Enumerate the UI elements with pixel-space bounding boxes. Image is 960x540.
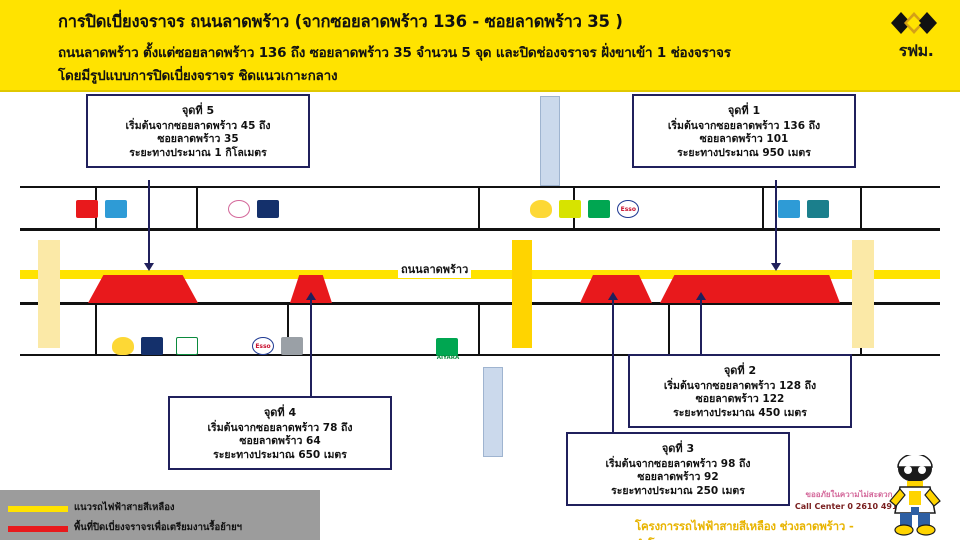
callout-line-2: ซอยลาดพร้าว 64 — [178, 435, 382, 448]
callout-line-2: ซอยลาดพร้าว 122 — [638, 393, 842, 406]
header-subtitle-1: ถนนลาดพร้าว ตั้งแต่ซอยลาดพร้าว 136 ถึง ซ… — [58, 41, 858, 63]
arrow-point-1 — [771, 263, 781, 271]
callout-line-1: เริ่มต้นจากซอยลาดพร้าว 45 ถึง — [96, 120, 300, 133]
legend-swatch-red — [8, 526, 68, 532]
poi-group-upper-mid — [228, 198, 281, 218]
poi-group-lower-left — [112, 335, 165, 355]
shell-station-icon — [112, 337, 134, 355]
legend-swatch-yellow — [8, 506, 68, 512]
side-street-divider — [668, 304, 670, 354]
callout-line-3: ระยะทางประมาณ 250 เมตร — [576, 485, 780, 498]
callout-title: จุดที่ 1 — [642, 101, 846, 119]
leader-point-1 — [775, 180, 777, 265]
mrta-logo-text: รฟม. — [880, 39, 952, 64]
facility-bar-lower — [483, 367, 503, 457]
infographic-page: การปิดเบี่ยงจราจร ถนนลาดพร้าว (จากซอยลาด… — [0, 0, 960, 540]
legend-text-red: พื้นที่ปิดเบี่ยงจราจรเพื่อเตรียมงานรื้อย… — [74, 520, 242, 535]
arrow-point-4 — [306, 292, 316, 300]
cola-logo-icon — [76, 200, 98, 218]
callout-line-3: ระยะทางประมาณ 1 กิโลเมตร — [96, 147, 300, 160]
green-logo-icon — [588, 200, 610, 218]
side-street-divider — [478, 304, 480, 354]
aiyara-label: AIYARA — [436, 355, 460, 361]
callout-title: จุดที่ 5 — [96, 101, 300, 119]
arrow-point-2 — [696, 292, 706, 300]
callout-line-3: ระยะทางประมาณ 450 เมตร — [638, 407, 842, 420]
traffic-diversion-map: แยกรัชดา-ลาดพร้าว แยกลาดพร้าว แยกบางกะปิ… — [0, 92, 960, 490]
callout-line-1: เริ่มต้นจากซอยลาดพร้าว 98 ถึง — [576, 458, 780, 471]
arrow-point-5 — [144, 263, 154, 271]
callout-title: จุดที่ 2 — [638, 361, 842, 379]
side-street-divider — [95, 304, 97, 354]
legend-row-yellow: แนวรถไฟฟ้าสายสีเหลือง — [8, 500, 308, 518]
building-logo-icon — [281, 337, 303, 355]
cross-street-band-center — [512, 240, 532, 348]
mrta-diamond-icon — [887, 8, 945, 38]
callout-point-2: จุดที่ 2 เริ่มต้นจากซอยลาดพร้าว 128 ถึง … — [628, 354, 852, 428]
side-street-divider — [860, 186, 862, 230]
block-border-upper-top — [20, 186, 940, 188]
facility-bar-upper — [540, 96, 560, 186]
bangchak-station-icon — [176, 337, 198, 355]
callout-line-2: ซอยลาดพร้าว 35 — [96, 133, 300, 146]
leader-point-4 — [310, 298, 312, 396]
callout-line-3: ระยะทางประมาณ 950 เมตร — [642, 147, 846, 160]
hospital-logo-icon — [228, 200, 250, 218]
bank-wordmark-icon — [257, 200, 279, 218]
diversion-zone-5 — [88, 275, 198, 303]
leaf-logo-icon — [807, 200, 829, 218]
road-edge-north — [20, 228, 940, 231]
cross-street-band-right — [852, 240, 874, 348]
project-name-label: โครงการรถไฟฟ้าสายสีเหลือง ช่วงลาดพร้าว -… — [635, 518, 885, 540]
header-subtitle-2: โดยมีรูปแบบการปิดเบี่ยงจราจร ชิดแนวเกาะก… — [58, 64, 858, 86]
side-street-divider — [196, 186, 198, 230]
callout-line-1: เริ่มต้นจากซอยลาดพร้าว 128 ถึง — [638, 380, 842, 393]
poi-group-lower-bcp — [176, 335, 200, 355]
side-street-divider — [762, 186, 764, 230]
callout-point-3: จุดที่ 3 เริ่มต้นจากซอยลาดพร้าว 98 ถึง ซ… — [566, 432, 790, 506]
callout-point-5: จุดที่ 5 เริ่มต้นจากซอยลาดพร้าว 45 ถึง ซ… — [86, 94, 310, 168]
leader-point-3 — [612, 298, 614, 432]
road-name-label: ถนนลาดพร้าว — [398, 260, 471, 278]
esso-station-icon: Esso — [617, 200, 639, 218]
callout-title: จุดที่ 4 — [178, 403, 382, 421]
diversion-zone-2 — [660, 275, 840, 303]
caltex-station-icon — [559, 200, 581, 218]
esso-station-icon: Esso — [252, 337, 274, 355]
bank-logo-icon — [105, 200, 127, 218]
arrow-point-3 — [608, 292, 618, 300]
aiyara-logo-icon — [436, 338, 458, 356]
side-street-divider — [478, 186, 480, 230]
mrta-logo: รฟม. — [880, 6, 952, 68]
page-title: การปิดเบี่ยงจราจร ถนนลาดพร้าว (จากซอยลาด… — [58, 12, 848, 32]
bank-logo-icon — [141, 337, 163, 355]
callout-line-2: ซอยลาดพร้าว 101 — [642, 133, 846, 146]
legend-text-yellow: แนวรถไฟฟ้าสายสีเหลือง — [74, 500, 175, 515]
callout-point-1: จุดที่ 1 เริ่มต้นจากซอยลาดพร้าว 136 ถึง … — [632, 94, 856, 168]
poi-group-lower-esso: Esso — [252, 335, 305, 355]
header-banner: การปิดเบี่ยงจราจร ถนนลาดพร้าว (จากซอยลาด… — [0, 0, 960, 92]
legend-panel: แนวรถไฟฟ้าสายสีเหลือง พื้นที่ปิดเบี่ยงจร… — [0, 490, 320, 540]
poi-group-upper-left — [76, 198, 129, 218]
poi-group-upper-right — [778, 198, 831, 218]
leader-point-5 — [148, 180, 150, 265]
shell-station-icon — [530, 200, 552, 218]
callout-line-1: เริ่มต้นจากซอยลาดพร้าว 136 ถึง — [642, 120, 846, 133]
poi-group-upper-stations: Esso — [530, 198, 641, 218]
leader-point-2 — [700, 298, 702, 354]
callout-point-4: จุดที่ 4 เริ่มต้นจากซอยลาดพร้าว 78 ถึง ซ… — [168, 396, 392, 470]
mascot-robot-icon — [880, 455, 950, 537]
cross-street-band-left — [38, 240, 60, 348]
callout-line-3: ระยะทางประมาณ 650 เมตร — [178, 449, 382, 462]
callout-line-1: เริ่มต้นจากซอยลาดพร้าว 78 ถึง — [178, 422, 382, 435]
blue-sign-icon — [778, 200, 800, 218]
poi-group-aiyara: AIYARA — [436, 336, 460, 361]
callout-line-2: ซอยลาดพร้าว 92 — [576, 471, 780, 484]
legend-row-red: พื้นที่ปิดเบี่ยงจราจรเพื่อเตรียมงานรื้อย… — [8, 520, 308, 538]
callout-title: จุดที่ 3 — [576, 439, 780, 457]
